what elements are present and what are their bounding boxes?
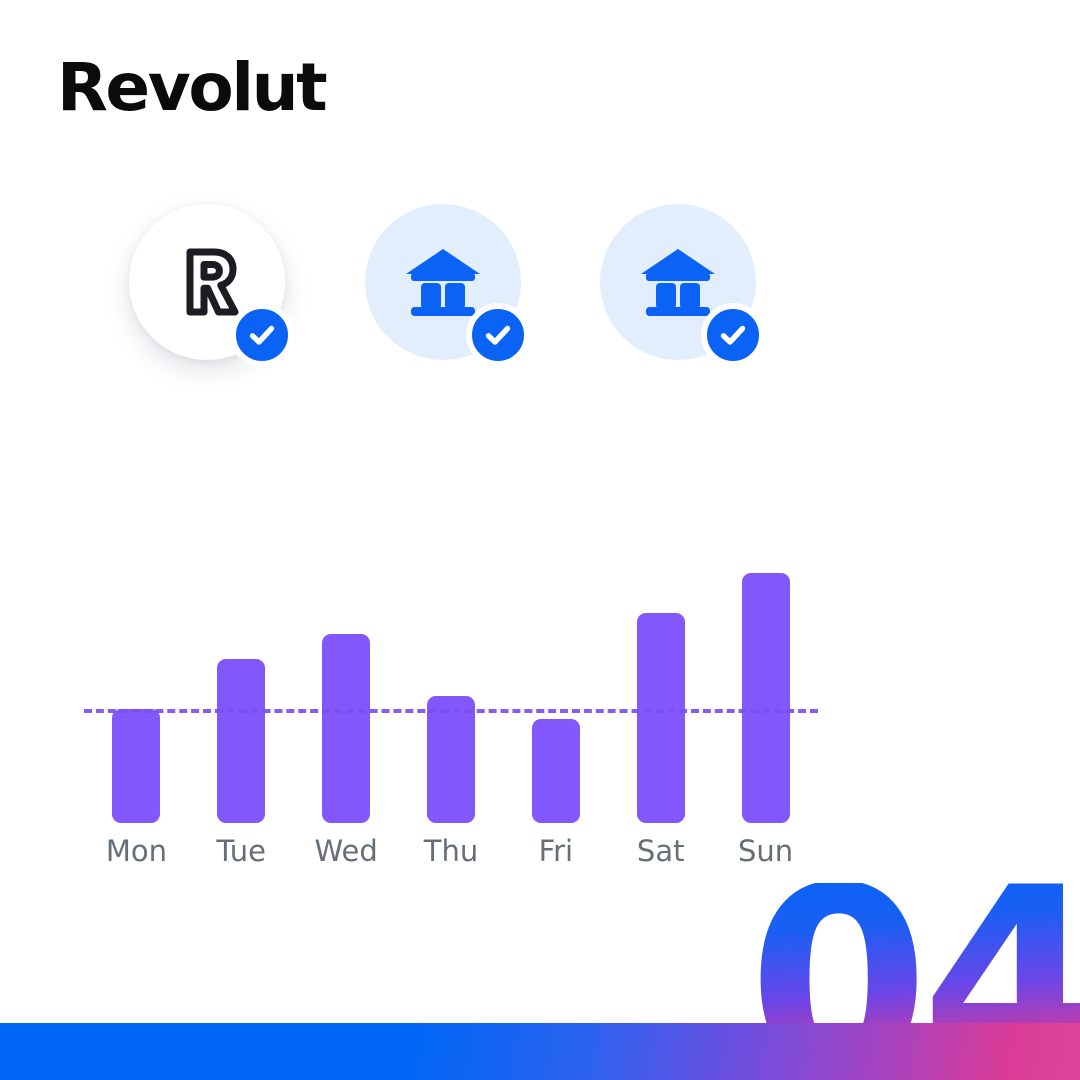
chart-bar[interactable]: [112, 709, 160, 823]
average-reference-line: [84, 709, 818, 713]
account-chip-bank-2[interactable]: [600, 204, 756, 360]
revolut-r-logo-icon: [168, 243, 246, 321]
bar-slot: Mon: [84, 545, 189, 823]
revolut-spending-card: Revolut: [0, 0, 1080, 1080]
bar-slot: Thu: [399, 545, 504, 823]
chart-bar[interactable]: [322, 634, 370, 823]
x-axis-tick-label: Wed: [315, 837, 378, 866]
x-axis-tick-label: Mon: [106, 837, 167, 866]
bar-slot: Sun: [713, 545, 818, 823]
bottom-gradient-bar: [0, 1023, 1080, 1080]
chart-bar[interactable]: [217, 659, 265, 823]
chart-bar[interactable]: [742, 573, 790, 823]
check-icon: [481, 318, 515, 352]
verified-badge: [701, 303, 765, 367]
chart-bar[interactable]: [637, 613, 685, 823]
x-axis-tick-label: Fri: [539, 837, 574, 866]
chart-bar[interactable]: [532, 719, 580, 823]
chart-bar[interactable]: [427, 696, 475, 823]
linked-accounts-row: [129, 204, 889, 394]
bank-icon: [402, 243, 484, 321]
verified-badge: [230, 303, 294, 367]
bar-slot: Sat: [608, 545, 713, 823]
x-axis-tick-label: Sat: [637, 837, 685, 866]
check-icon: [245, 318, 279, 352]
bar-slot: Fri: [503, 545, 608, 823]
account-chip-bank-1[interactable]: [365, 204, 521, 360]
x-axis-tick-label: Thu: [424, 837, 478, 866]
bar-slot: Tue: [189, 545, 294, 823]
bar-slot: Wed: [294, 545, 399, 823]
weekly-spending-bar-chart: MonTueWedThuFriSatSun: [84, 545, 818, 823]
check-icon: [716, 318, 750, 352]
account-chip-revolut[interactable]: [129, 204, 285, 360]
bank-icon: [637, 243, 719, 321]
x-axis-tick-label: Tue: [216, 837, 266, 866]
revolut-wordmark: Revolut: [57, 55, 325, 121]
verified-badge: [466, 303, 530, 367]
